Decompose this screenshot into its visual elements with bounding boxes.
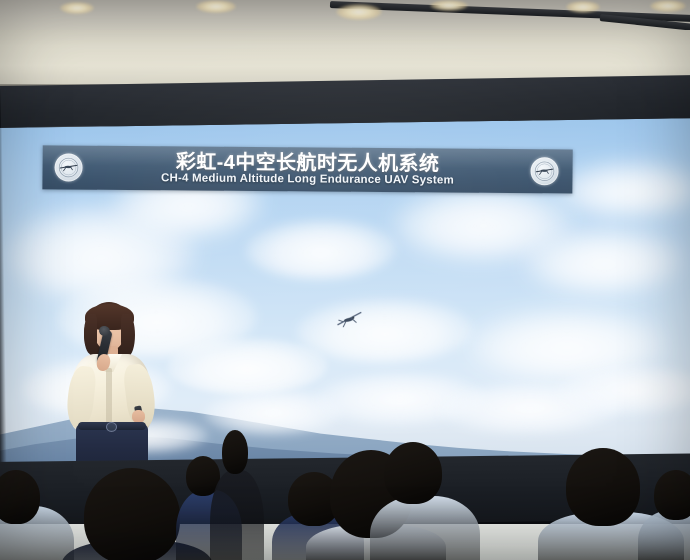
slide-title-banner: 彩虹-4中空长航时无人机系统 CH-4 Medium Altitude Long…: [42, 145, 572, 193]
audience-member-7: [384, 442, 442, 504]
presenter-belt-buckle: [106, 422, 117, 432]
audience-member-9: [654, 470, 690, 520]
downlight-3: [336, 4, 382, 20]
audience-member-4-shoulders: [210, 470, 264, 560]
auditorium-ceiling: [0, 0, 690, 34]
audience-member-4: [222, 430, 248, 474]
banner-title-english: CH-4 Medium Altitude Long Endurance UAV …: [161, 173, 454, 187]
downlight-2: [196, 0, 236, 13]
downlight-1: [60, 2, 94, 14]
presenter-hair-right: [121, 314, 135, 356]
presentation-photo: 彩虹-4中空长航时无人机系统 CH-4 Medium Altitude Long…: [0, 0, 690, 560]
audience-member-2: [84, 468, 180, 560]
downlight-6: [650, 0, 686, 12]
downlight-5: [566, 1, 600, 13]
audience-member-7-shoulders: [370, 496, 480, 560]
uav-emblem-right: [530, 157, 558, 185]
presenter-blouse-placket: [106, 368, 112, 424]
downlight-4: [430, 0, 468, 11]
audience-member-8: [566, 448, 640, 526]
presenter-hair-left: [84, 314, 97, 354]
banner-text-block: 彩虹-4中空长航时无人机系统 CH-4 Medium Altitude Long…: [42, 145, 572, 193]
banner-title-chinese: 彩虹-4中空长航时无人机系统: [176, 152, 440, 174]
